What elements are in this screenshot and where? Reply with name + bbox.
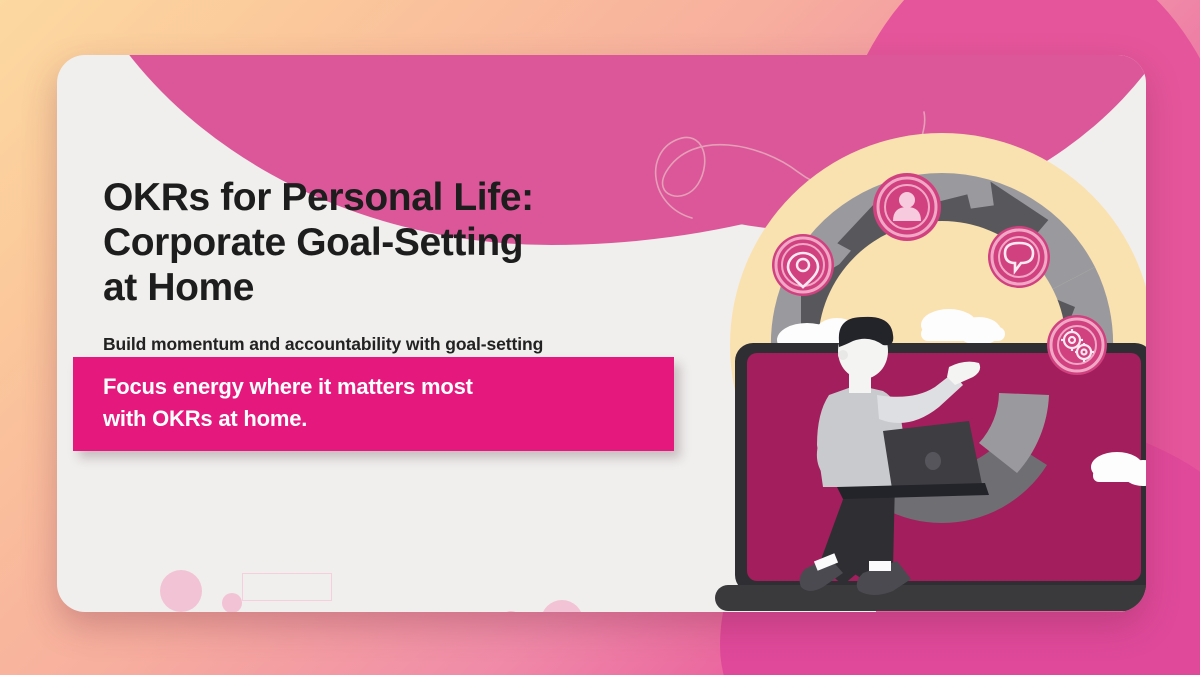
text-column: OKRs for Personal Life: Corporate Goal-S… <box>103 175 713 380</box>
speech-bubble-icon <box>988 226 1050 288</box>
monitor-stand <box>715 585 1146 611</box>
highlight-banner: Focus energy where it matters most with … <box>73 357 674 451</box>
slide-card: OKRs for Personal Life: Corporate Goal-S… <box>57 55 1146 612</box>
deco-rect-upper <box>242 573 332 601</box>
page-title: OKRs for Personal Life: Corporate Goal-S… <box>103 175 713 310</box>
deco-circle-small-mid <box>501 611 521 612</box>
hero-illustration <box>697 95 1146 612</box>
deco-circle-small-left <box>222 593 242 612</box>
deco-circle-large-mid <box>541 600 583 612</box>
location-pin-icon <box>772 234 834 296</box>
deco-circle-large-left <box>160 570 202 612</box>
user-icon <box>873 173 941 241</box>
gears-icon <box>1047 315 1107 375</box>
